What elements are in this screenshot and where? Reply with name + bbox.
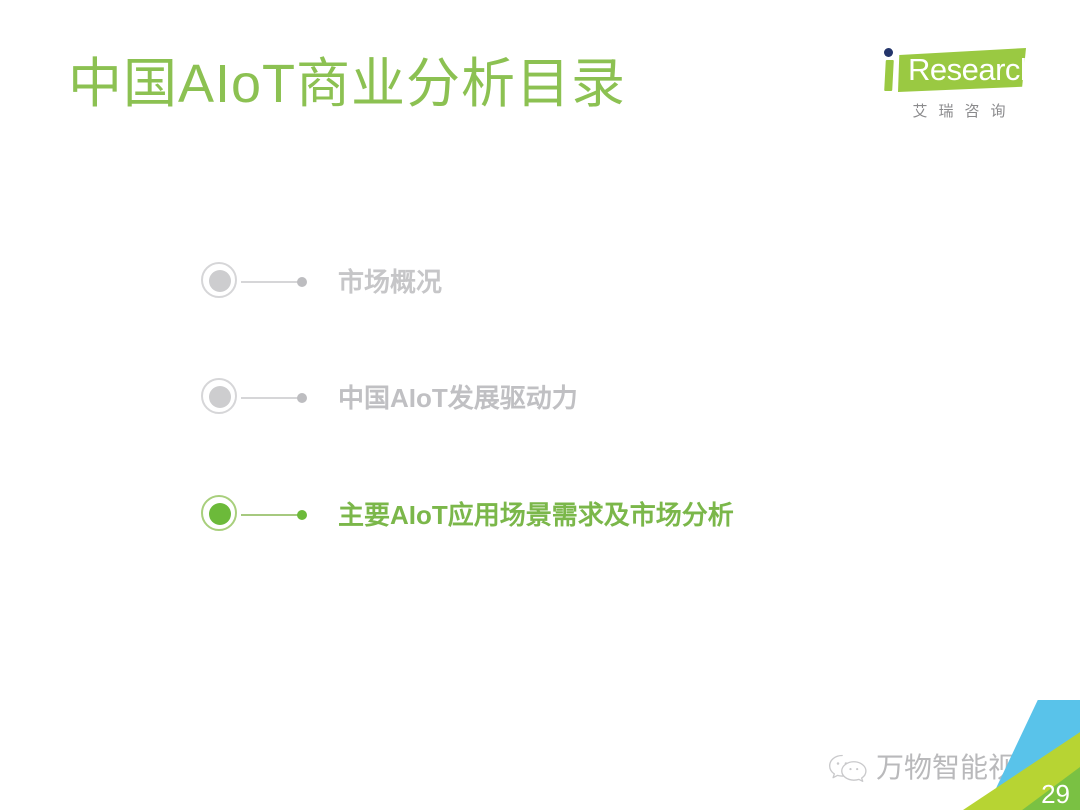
agenda-connector-1 <box>241 276 311 288</box>
agenda-marker-3 <box>201 495 241 535</box>
agenda-list: 市场概况 中国AIoT发展驱动力 主要AIoT应用场景需求及市场分析 <box>0 0 1080 810</box>
marker-dot-icon <box>209 386 231 408</box>
agenda-item-label-1: 市场概况 <box>338 265 442 299</box>
agenda-marker-2 <box>201 378 241 418</box>
agenda-connector-3 <box>241 509 311 521</box>
agenda-marker-1 <box>201 262 241 302</box>
connector-end-dot-icon <box>297 510 307 520</box>
agenda-item-2[interactable]: 中国AIoT发展驱动力 <box>201 376 578 420</box>
agenda-item-label-2: 中国AIoT发展驱动力 <box>338 381 578 415</box>
agenda-item-3[interactable]: 主要AIoT应用场景需求及市场分析 <box>201 493 734 537</box>
page-number: 29 <box>1041 780 1070 808</box>
connector-line <box>241 397 301 399</box>
connector-line <box>241 514 301 516</box>
agenda-item-label-3: 主要AIoT应用场景需求及市场分析 <box>338 498 734 532</box>
connector-end-dot-icon <box>297 277 307 287</box>
marker-dot-icon <box>209 503 231 525</box>
connector-end-dot-icon <box>297 393 307 403</box>
connector-line <box>241 281 301 283</box>
marker-dot-icon <box>209 270 231 292</box>
page-corner-decoration: 29 <box>960 700 1080 810</box>
slide-canvas: 中国AIoT商业分析目录 Research 艾瑞咨询 市场概况 <box>0 0 1080 810</box>
agenda-item-1[interactable]: 市场概况 <box>201 260 442 304</box>
agenda-connector-2 <box>241 392 311 404</box>
wechat-icon <box>828 751 868 785</box>
